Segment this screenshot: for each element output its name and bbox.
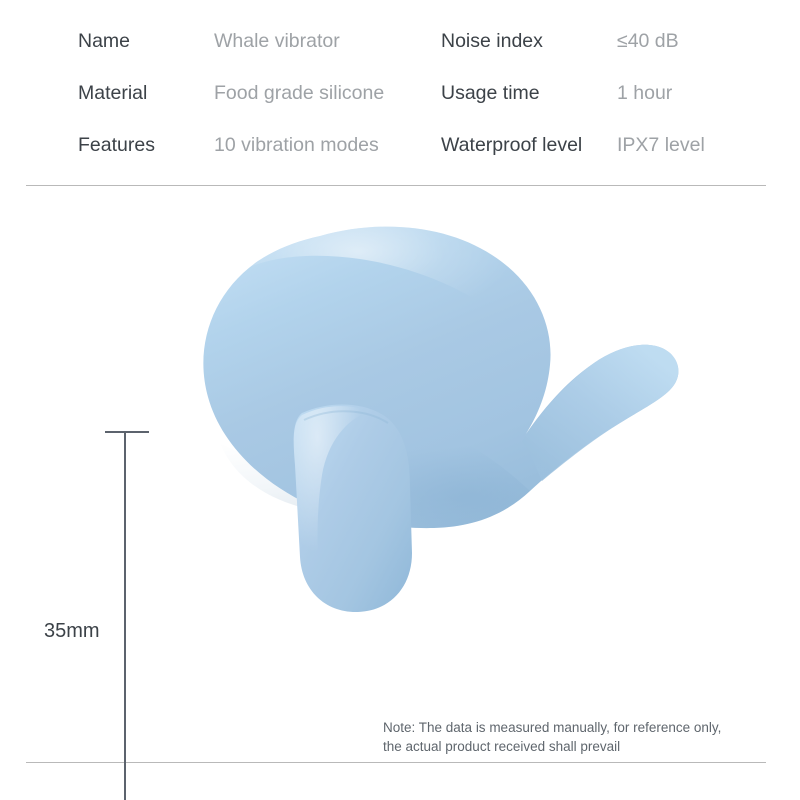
note-line-2: the actual product received shall prevai… — [383, 737, 763, 756]
whale-vibrator-illustration — [150, 215, 690, 635]
table-row: Features 10 vibration modes Waterproof l… — [0, 132, 800, 184]
note-line-1: Note: The data is measured manually, for… — [383, 718, 763, 737]
dimension-cap-top — [105, 431, 149, 433]
spec-label-name: Name — [78, 28, 130, 54]
spec-label-waterproof-level: Waterproof level — [441, 132, 582, 158]
product-figure: 35mm 60mm — [0, 195, 800, 695]
specification-table: Name Whale vibrator Noise index ≤40 dB M… — [0, 0, 800, 175]
spec-value-material: Food grade silicone — [214, 80, 384, 106]
spec-label-features: Features — [78, 132, 155, 158]
spec-value-usage-time: 1 hour — [617, 80, 672, 106]
spec-value-waterproof-level: IPX7 level — [617, 132, 705, 158]
dimension-line-vertical — [124, 431, 126, 800]
spec-label-usage-time: Usage time — [441, 80, 540, 106]
spec-value-noise-index: ≤40 dB — [617, 28, 679, 54]
product-spec-page: Name Whale vibrator Noise index ≤40 dB M… — [0, 0, 800, 800]
dimension-label-height: 35mm — [44, 619, 100, 643]
divider-top — [26, 185, 766, 186]
spec-label-noise-index: Noise index — [441, 28, 543, 54]
measurement-note: Note: The data is measured manually, for… — [383, 718, 763, 756]
spec-value-name: Whale vibrator — [214, 28, 340, 54]
table-row: Material Food grade silicone Usage time … — [0, 80, 800, 132]
divider-bottom — [26, 762, 766, 763]
spec-label-material: Material — [78, 80, 147, 106]
table-row: Name Whale vibrator Noise index ≤40 dB — [0, 28, 800, 80]
spec-value-features: 10 vibration modes — [214, 132, 379, 158]
